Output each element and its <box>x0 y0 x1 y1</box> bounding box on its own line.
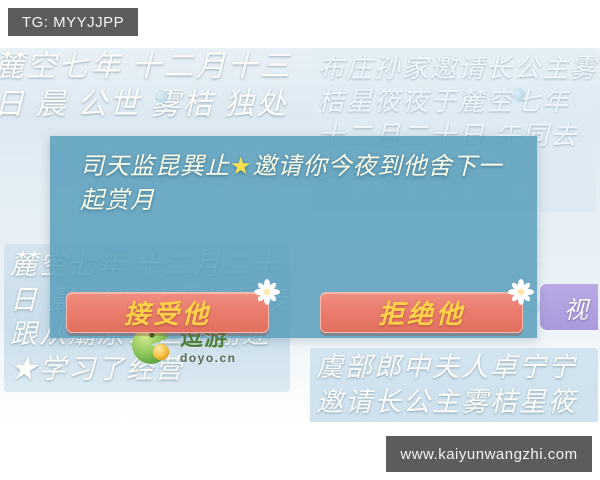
watermark-bottom: www.kaiyunwangzhi.com <box>386 436 592 472</box>
bg-text-right-bottom: 虞部郎中夫人卓宁宁邀请长公主雾桔星筱于麓空七年 十二月二十日 <box>316 350 598 422</box>
side-view-button[interactable]: 视 <box>540 284 598 330</box>
screenshot-root: TG: MYYJJPP 麓空七年 十二月十三日 晨 公世 雾桔 独处 布庄孙家邀… <box>0 0 600 480</box>
accept-button-label: 接受他 <box>124 294 211 331</box>
accept-button[interactable]: 接受他 <box>66 292 269 333</box>
panel-marker-right <box>512 88 525 101</box>
dialog-message: 司天监昆巽止★邀请你今夜到他舍下一起赏月 <box>80 150 520 218</box>
refuse-button-label: 拒绝他 <box>378 294 465 331</box>
game-viewport: 麓空七年 十二月十三日 晨 公世 雾桔 独处 布庄孙家邀请长公主雾桔星筱夜于麓空… <box>0 48 600 422</box>
flower-icon-refuse <box>508 279 534 305</box>
flower-icon-accept <box>254 279 280 305</box>
refuse-button[interactable]: 拒绝他 <box>320 292 523 333</box>
panel-marker-left <box>155 90 168 103</box>
watermark-top: TG: MYYJJPP <box>8 8 138 36</box>
star-icon: ★ <box>230 154 253 180</box>
logo-domain: doyo.cn <box>180 352 237 364</box>
invitation-dialog: 司天监昆巽止★邀请你今夜到他舍下一起赏月 <box>50 136 537 338</box>
side-view-button-label: 视 <box>564 290 588 325</box>
dialog-message-part1: 司天监昆巽止 <box>80 154 230 180</box>
